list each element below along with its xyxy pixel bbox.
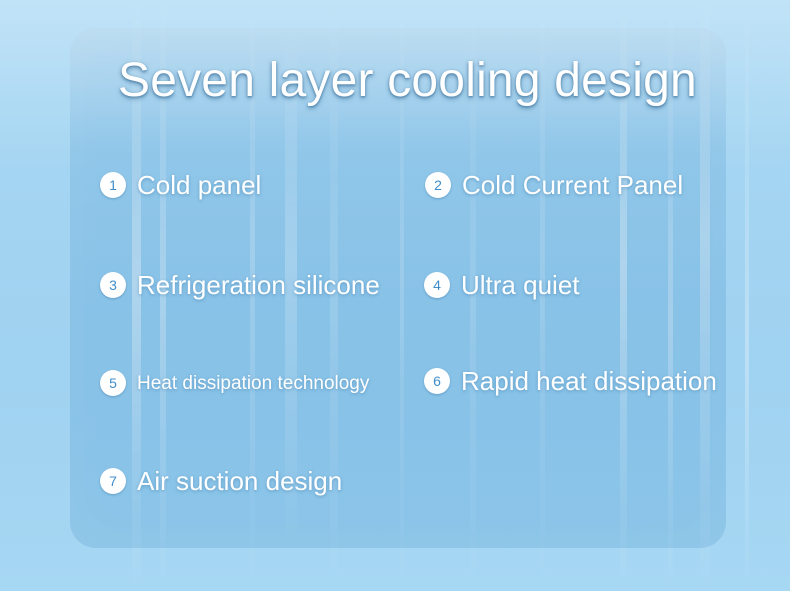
item-number-badge: 5	[100, 370, 126, 396]
page-title: Seven layer cooling design	[118, 56, 697, 106]
list-item: 1 Cold panel	[100, 172, 261, 198]
list-item: 5 Heat dissipation technology	[100, 370, 369, 396]
item-number-badge: 4	[424, 272, 450, 298]
list-item: 4 Ultra quiet	[424, 272, 580, 298]
item-number-badge: 7	[100, 468, 126, 494]
list-item-label: Heat dissipation technology	[137, 374, 369, 393]
list-item-label: Refrigeration silicone	[137, 272, 380, 298]
item-number-badge: 6	[424, 368, 450, 394]
item-number-badge: 3	[100, 272, 126, 298]
list-item-label: Air suction design	[137, 468, 342, 494]
list-item: 2 Cold Current Panel	[425, 172, 683, 198]
list-item: 7 Air suction design	[100, 468, 342, 494]
list-item-label: Cold panel	[137, 172, 261, 198]
list-item: 3 Refrigeration silicone	[100, 272, 380, 298]
item-number-badge: 2	[425, 172, 451, 198]
list-item-label: Rapid heat dissipation	[461, 368, 717, 394]
item-number-badge: 1	[100, 172, 126, 198]
list-item: 6 Rapid heat dissipation	[424, 368, 717, 394]
list-item-label: Ultra quiet	[461, 272, 580, 298]
promo-banner: Seven layer cooling design 1 Cold panel …	[0, 0, 790, 591]
list-item-label: Cold Current Panel	[462, 172, 683, 198]
